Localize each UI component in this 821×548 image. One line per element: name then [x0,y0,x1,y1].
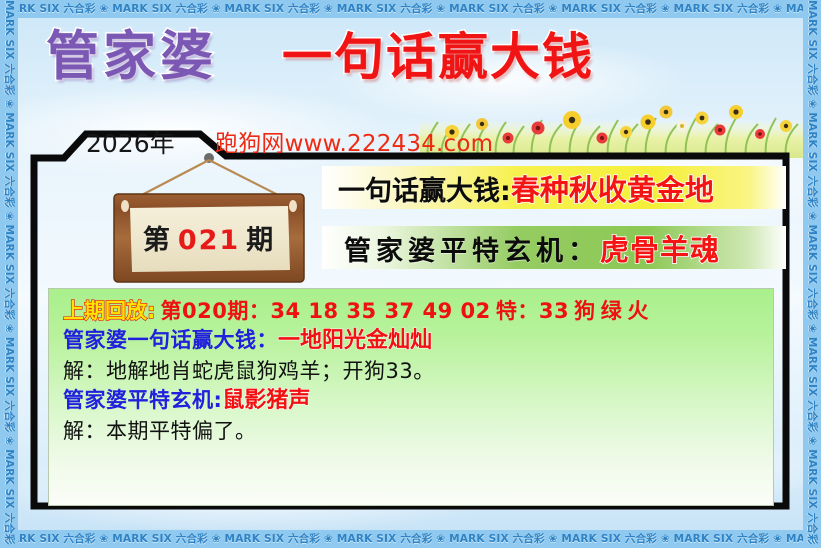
issue-prefix: 第 [143,225,172,256]
page-title-brand: 管家婆 [46,30,217,83]
prediction-row-1: 管家婆一句话赢大钱：一地阳光金灿灿 [63,330,773,352]
issue-number: 021 [172,225,246,256]
recap-issue: 第020期： [161,299,271,323]
recap-special-number: 33 [539,299,569,323]
poster-root: 管家婆 一句话赢大钱 2026年 跑狗网www.222434.com [0,0,821,548]
recap-zodiac: 狗 [574,299,596,323]
issue-suffix: 期 [246,225,275,256]
prediction-value-1: 一地阳光金灿灿 [278,328,432,353]
explanation-text-2: 解：本期平特偏了。 [63,419,257,443]
border-top-text: MARK SIX 六合彩 ❀ MARK SIX 六合彩 ❀ MARK SIX 六… [0,0,821,18]
banner-yellow: 一句话赢大钱:春种秋收黄金地 [322,166,786,209]
border-bottom-text: MARK SIX 六合彩 ❀ MARK SIX 六合彩 ❀ MARK SIX 六… [0,530,821,548]
recap-element: 火 [627,299,649,323]
banner-yellow-label: 一句话赢大钱: [338,176,511,207]
prediction-label-1: 管家婆一句话赢大钱： [63,328,278,352]
prediction-label-2: 管家婆平特玄机: [63,388,222,412]
border-right-text: MARK SIX 六合彩 ❀ MARK SIX 六合彩 ❀ MARK SIX 六… [803,0,821,548]
border-right: MARK SIX 六合彩 ❀ MARK SIX 六合彩 ❀ MARK SIX 六… [803,0,821,548]
recap-special-label: 特： [496,299,539,323]
recap-row: 上期回放: 第020期：34 18 35 37 49 02 特：33 狗 绿 火 [63,301,773,322]
border-left: MARK SIX 六合彩 ❀ MARK SIX 六合彩 ❀ MARK SIX 六… [0,0,18,548]
recap-title: 上期回放: [63,299,155,323]
page-title-headline: 一句话赢大钱 [282,32,594,82]
border-top: MARK SIX 六合彩 ❀ MARK SIX 六合彩 ❀ MARK SIX 六… [0,0,821,18]
recap-color: 绿 [601,299,623,323]
recap-numbers: 34 18 35 37 49 02 [270,299,490,323]
prediction-row-2: 管家婆平特玄机:鼠影猪声 [63,390,773,412]
banner-yellow-value: 春种秋收黄金地 [511,173,714,207]
explanation-text-1: 解：地解地肖蛇虎鼠狗鸡羊；开狗33。 [63,359,435,383]
prediction-value-2: 鼠影猪声 [222,388,310,413]
explanation-row-2: 解：本期平特偏了。 [63,421,773,442]
content-panel: 上期回放: 第020期：34 18 35 37 49 02 特：33 狗 绿 火… [48,288,774,506]
border-left-text: MARK SIX 六合彩 ❀ MARK SIX 六合彩 ❀ MARK SIX 六… [0,0,18,548]
issue-number-display: 第021期 [98,218,320,257]
border-bottom: MARK SIX 六合彩 ❀ MARK SIX 六合彩 ❀ MARK SIX 六… [0,530,821,548]
explanation-row-1: 解：地解地肖蛇虎鼠狗鸡羊；开狗33。 [63,361,773,382]
banner-green-label: 管家婆平特玄机： [344,236,600,267]
banner-green: 管家婆平特玄机：虎骨羊魂 [322,226,786,269]
banner-green-value: 虎骨羊魂 [600,233,720,267]
